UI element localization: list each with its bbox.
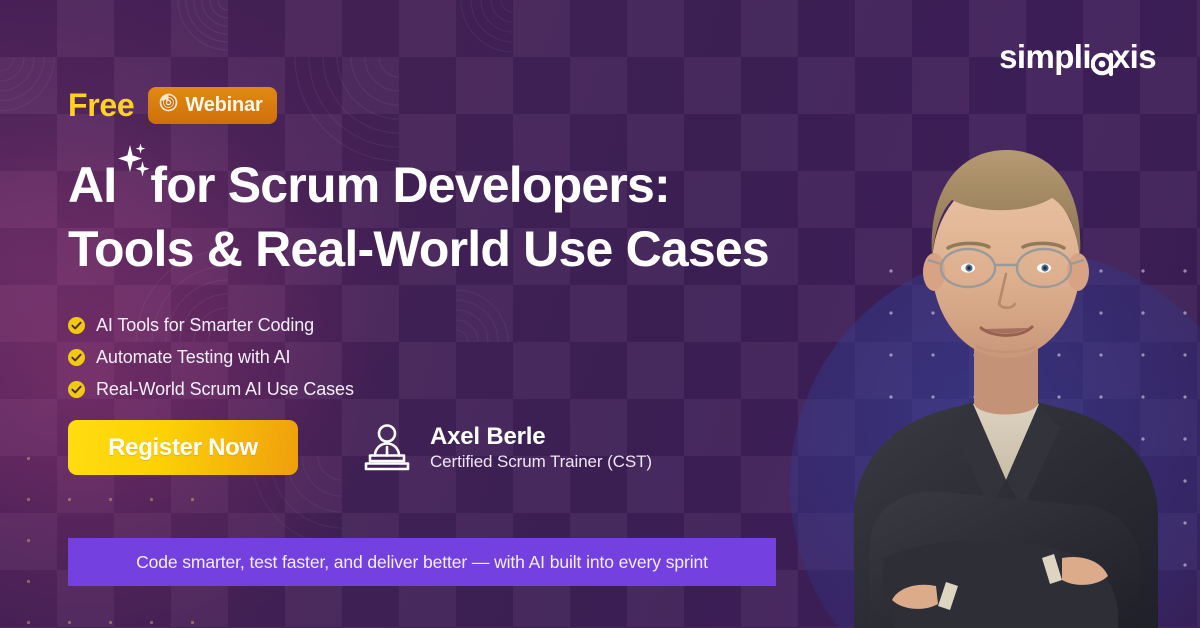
list-item-label: Automate Testing with AI — [96, 347, 290, 368]
free-label: Free — [68, 87, 134, 124]
list-item: AI Tools for Smarter Coding — [68, 315, 354, 336]
check-circle-icon — [68, 317, 85, 334]
speaker-name: Axel Berle — [430, 422, 652, 451]
headline-line-2: Tools & Real-World Use Cases — [68, 217, 928, 281]
webcast-swirl-icon — [159, 93, 178, 117]
simpliaxis-logo[interactable]: simplixis — [999, 38, 1156, 76]
speaker-photo-axel-berle — [840, 88, 1170, 628]
presenter-podium-icon — [361, 422, 413, 474]
eyebrow-row: Free Webinar — [68, 87, 277, 124]
check-circle-icon — [68, 349, 85, 366]
logo-text-after: xis — [1112, 38, 1156, 76]
logo-text-before: simpli — [999, 38, 1091, 76]
headline-line-1-rest: for Scrum Developers: — [150, 153, 669, 217]
arc-pattern-tile — [0, 57, 57, 114]
list-item-label: Real-World Scrum AI Use Cases — [96, 379, 354, 400]
sparkle-icon — [116, 153, 150, 163]
tagline-text: Code smarter, test faster, and deliver b… — [136, 552, 708, 573]
list-item: Real-World Scrum AI Use Cases — [68, 379, 354, 400]
headline: AI for Scrum Developers: Tools & Real-Wo… — [68, 153, 928, 281]
benefit-list: AI Tools for Smarter Coding Automate Tes… — [68, 315, 354, 411]
arc-pattern-tile — [171, 0, 228, 57]
webinar-banner: simplixis Free Webinar AI — [0, 0, 1200, 628]
headline-ai-word: AI — [68, 153, 116, 217]
arc-pattern-tile — [456, 285, 513, 342]
list-item-label: AI Tools for Smarter Coding — [96, 315, 314, 336]
speaker-block: Axel Berle Certified Scrum Trainer (CST) — [361, 422, 652, 474]
cta-row: Register Now Axel Berle Certified Scrum … — [68, 420, 652, 475]
list-item: Automate Testing with AI — [68, 347, 354, 368]
speaker-text: Axel Berle Certified Scrum Trainer (CST) — [430, 422, 652, 473]
check-circle-icon — [68, 381, 85, 398]
headline-line-1: AI for Scrum Developers: — [68, 153, 928, 217]
webinar-badge-label: Webinar — [185, 94, 262, 117]
arc-pattern-tile — [456, 0, 513, 57]
webinar-badge: Webinar — [148, 87, 276, 124]
speaker-role: Certified Scrum Trainer (CST) — [430, 451, 652, 473]
register-now-button[interactable]: Register Now — [68, 420, 298, 475]
tagline-strip: Code smarter, test faster, and deliver b… — [68, 538, 776, 586]
